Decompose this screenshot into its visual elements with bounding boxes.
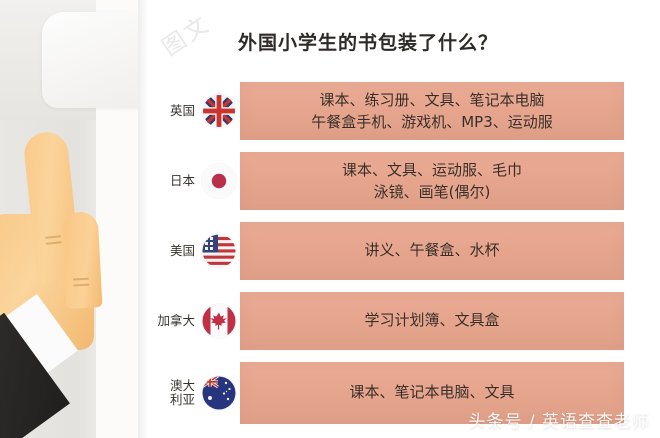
items-text: 课本、笔记本电脑、文具 xyxy=(349,383,514,403)
infographic-screenshot: 图文 外国小学生的书包装了什么？ 英国 xyxy=(0,0,660,438)
country-name: 日本 xyxy=(170,174,195,188)
source-watermark: 头条号 / 英语查查老师 xyxy=(468,407,650,432)
page-title: 外国小学生的书包装了什么？ xyxy=(238,28,498,55)
table-row: 美国 xyxy=(138,222,660,280)
white-card-illustration xyxy=(42,12,138,108)
left-illustration-panel xyxy=(0,0,138,438)
hand-illustration xyxy=(0,128,122,388)
items-text: 学习计划簿、文具盒 xyxy=(364,311,499,331)
country-label-cell: 加拿大 xyxy=(138,304,240,338)
items-text: 课本、练习册、文具、笔记本电脑 午餐盒手机、游戏机、MP3、运动服 xyxy=(311,89,553,134)
items-bar: 讲义、午餐盒、水杯 xyxy=(240,222,624,280)
country-name: 加拿大 xyxy=(157,314,195,328)
country-name: 英国 xyxy=(170,104,195,118)
knuckle-line xyxy=(73,278,89,281)
knuckle-line xyxy=(45,235,61,239)
knuckle-line xyxy=(46,241,62,245)
middle-finger-shape xyxy=(62,211,103,309)
canada-flag-icon xyxy=(202,304,236,338)
country-label-cell: 美国 xyxy=(138,234,240,268)
country-label-cell: 澳大 利亚 xyxy=(138,376,240,410)
country-label-cell: 英国 xyxy=(138,94,240,128)
items-text: 讲义、午餐盒、水杯 xyxy=(364,241,499,261)
country-rows-list: 英国 xyxy=(138,82,660,436)
table-row: 英国 xyxy=(138,82,660,140)
japan-flag-icon xyxy=(202,164,236,198)
items-bar: 学习计划簿、文具盒 xyxy=(240,292,624,350)
items-text: 课本、文具、运动服、毛巾 泳镜、画笔(偶尔) xyxy=(342,159,522,204)
table-row: 加拿大 学习计划簿、文 xyxy=(138,292,660,350)
usa-flag-icon xyxy=(202,234,236,268)
australia-flag-icon xyxy=(202,376,236,410)
knuckle-line xyxy=(73,284,89,287)
uk-flag-icon xyxy=(202,94,236,128)
content-sheet: 图文 外国小学生的书包装了什么？ 英国 xyxy=(138,0,660,438)
country-label-cell: 日本 xyxy=(138,164,240,198)
country-name: 美国 xyxy=(170,244,195,258)
items-bar: 课本、练习册、文具、笔记本电脑 午餐盒手机、游戏机、MP3、运动服 xyxy=(240,82,624,140)
country-name: 澳大 利亚 xyxy=(170,379,195,408)
table-row: 日本 课本、文具、运动服、毛巾 泳镜、画笔(偶尔) xyxy=(138,152,660,210)
items-bar: 课本、文具、运动服、毛巾 泳镜、画笔(偶尔) xyxy=(240,152,624,210)
